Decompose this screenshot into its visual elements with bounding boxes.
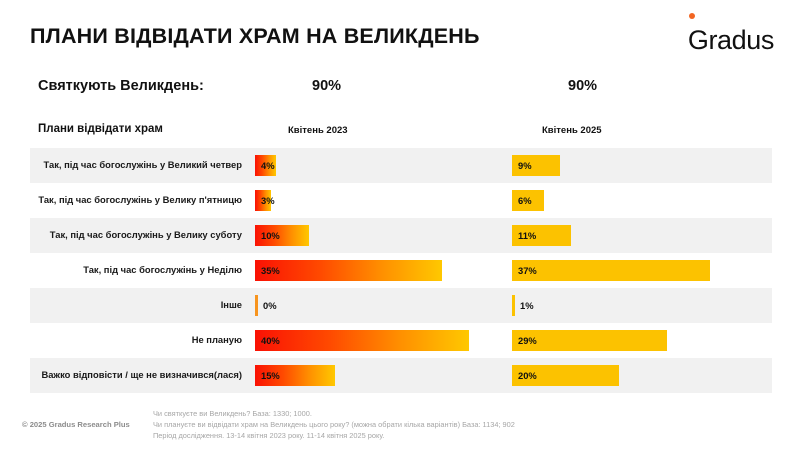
celebrate-easter-value-2023: 90%	[312, 78, 341, 94]
bar	[255, 295, 258, 316]
bar-value-label: 6%	[518, 190, 532, 211]
column-header-category: Плани відвідати храм	[38, 123, 163, 135]
bar-value-label: 15%	[261, 365, 280, 386]
table-row: Так, під час богослужінь у Велику п'ятни…	[0, 183, 800, 218]
bar-chart: Так, під час богослужінь у Великий четве…	[0, 148, 800, 393]
bar-value-label: 3%	[261, 190, 275, 211]
row-category-label: Так, під час богослужінь у Неділю	[30, 253, 248, 288]
celebrate-easter-value-2025: 90%	[568, 78, 597, 94]
row-category-label: Не планую	[30, 323, 248, 358]
logo-wordmark: Gradus	[688, 27, 774, 54]
methodology-note-line: Чи святкуєте ви Великдень? База: 1330; 1…	[153, 408, 515, 419]
bar	[512, 260, 710, 281]
table-row: Так, під час богослужінь у Великий четве…	[0, 148, 800, 183]
column-header-period-2025: Квітень 2025	[542, 125, 602, 136]
bar-value-label: 11%	[518, 225, 536, 246]
column-header-period-2023: Квітень 2023	[288, 125, 348, 136]
row-category-label: Так, під час богослужінь у Великий четве…	[30, 148, 248, 183]
table-row: Так, під час богослужінь у Неділю35%37%	[0, 253, 800, 288]
bar-value-label: 35%	[261, 260, 280, 281]
bar-value-label: 20%	[518, 365, 537, 386]
bar	[512, 295, 515, 316]
celebrate-easter-row: Святкують Великдень: 90% 90%	[0, 78, 800, 102]
bar-value-label: 1%	[520, 295, 534, 316]
bar-value-label: 40%	[261, 330, 280, 351]
table-row: Так, під час богослужінь у Велику суботу…	[0, 218, 800, 253]
bar-value-label: 29%	[518, 330, 537, 351]
bar	[255, 330, 469, 351]
bar	[255, 260, 442, 281]
bar-value-label: 9%	[518, 155, 532, 176]
footer: © 2025 Gradus Research Plus Чи святкуєте…	[0, 402, 800, 450]
methodology-note-line: Період дослідження. 13-14 квітня 2023 ро…	[153, 430, 515, 441]
bar-value-label: 10%	[261, 225, 280, 246]
row-category-label: Інше	[30, 288, 248, 323]
table-row: Інше0%1%	[0, 288, 800, 323]
page-title: ПЛАНИ ВІДВІДАТИ ХРАМ НА ВЕЛИКДЕНЬ	[30, 24, 480, 49]
row-category-label: Важко відповісти / ще не визначився(лася…	[30, 358, 248, 393]
methodology-notes: Чи святкуєте ви Великдень? База: 1330; 1…	[153, 408, 515, 441]
bar-value-label: 4%	[261, 155, 275, 176]
row-category-label: Так, під час богослужінь у Велику п'ятни…	[30, 183, 248, 218]
row-category-label: Так, під час богослужінь у Велику суботу	[30, 218, 248, 253]
table-row: Важко відповісти / ще не визначився(лася…	[0, 358, 800, 393]
gradus-logo: Gradus	[688, 20, 774, 54]
table-row: Не планую40%29%	[0, 323, 800, 358]
bar-value-label: 37%	[518, 260, 537, 281]
bar-value-label: 0%	[263, 295, 277, 316]
copyright-text: © 2025 Gradus Research Plus	[22, 420, 130, 429]
logo-dot-icon	[689, 13, 695, 19]
methodology-note-line: Чи плануєте ви відвідати храм на Великде…	[153, 419, 515, 430]
celebrate-easter-label: Святкують Великдень:	[38, 78, 204, 94]
